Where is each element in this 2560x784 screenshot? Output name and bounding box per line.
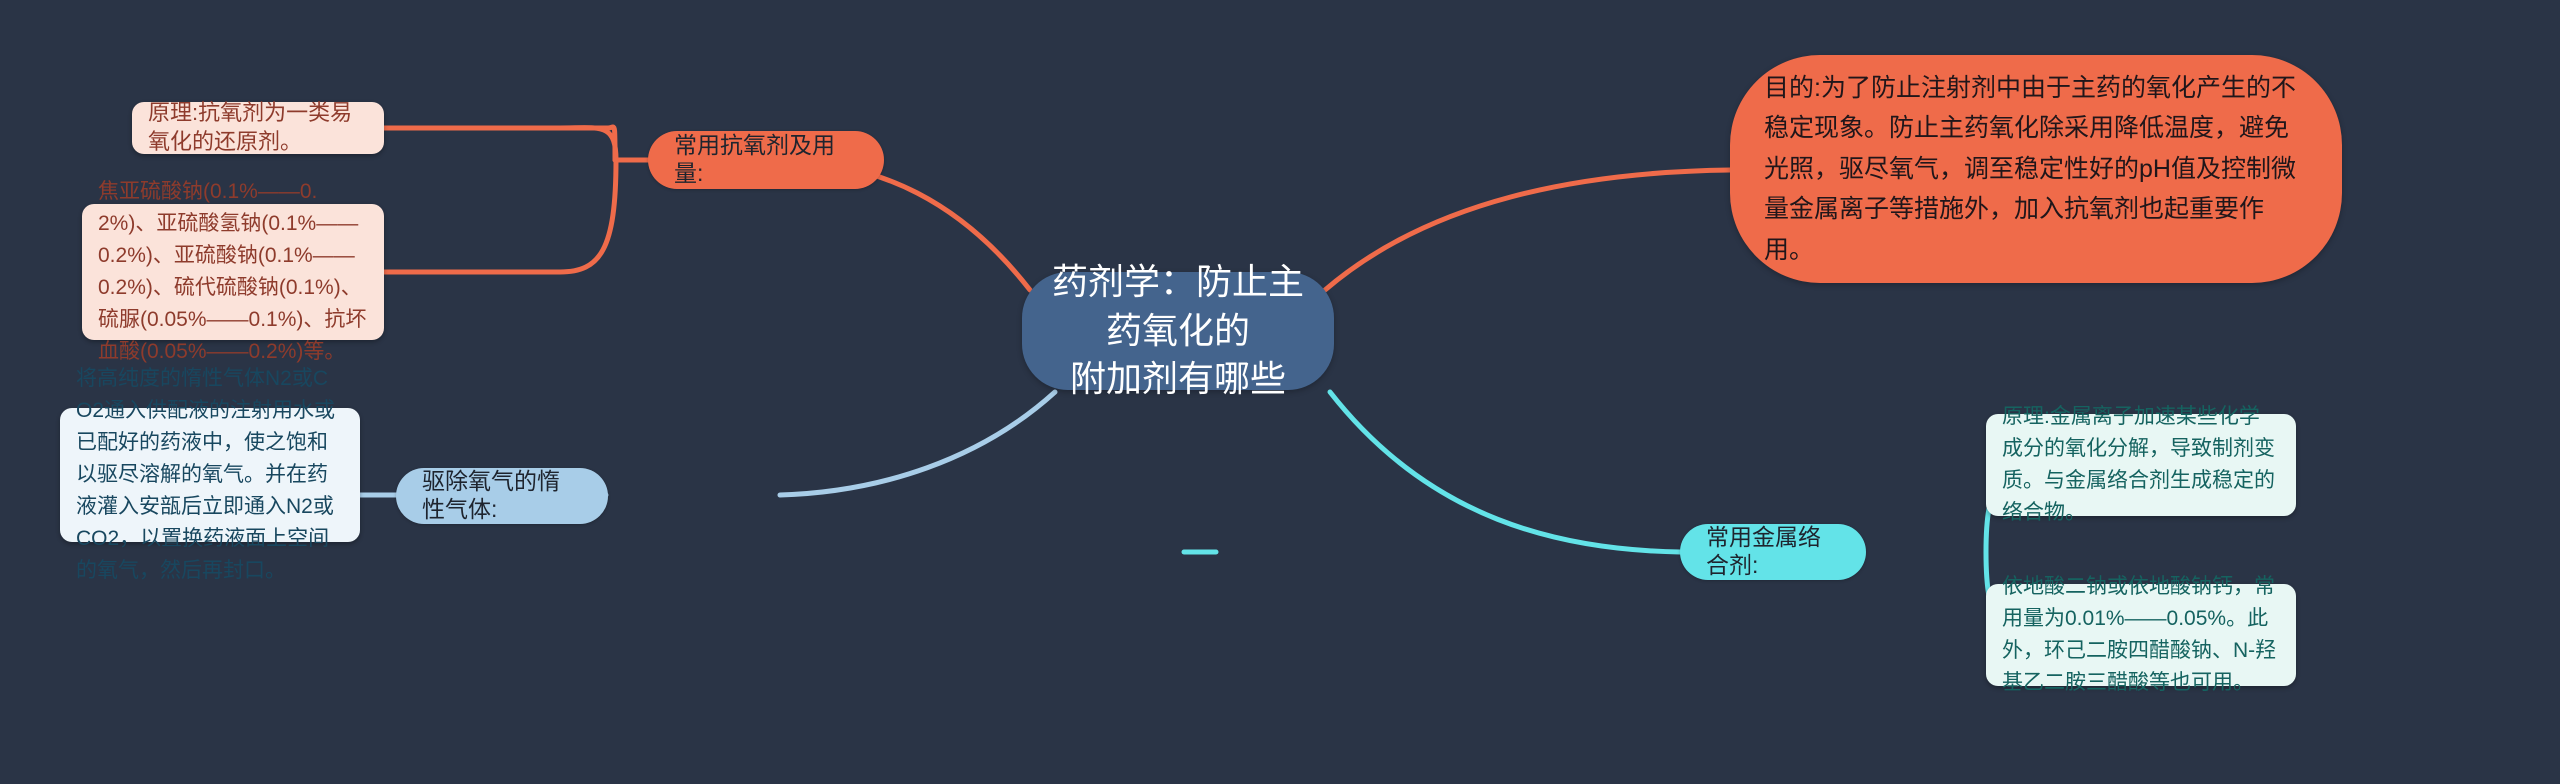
branch-inert-gas-label: 驱除氧气的惰性气体: [422,468,582,523]
leaf-chelator-principle-label: 原理:金属离子加速某些化学成分的氧化分解，导致制剂变质。与金属络合剂生成稳定的络… [2002,401,2280,529]
wire-root-to-inert-gas [780,392,1055,495]
branch-purpose-label: 目的:为了防止注射剂中由于主药的氧化产生的不稳定现象。防止主药氧化除采用降低温度… [1764,68,2308,271]
root-node[interactable]: 药剂学：防止主药氧化的 附加剂有哪些 [1022,272,1334,390]
leaf-chelator-principle[interactable]: 原理:金属离子加速某些化学成分的氧化分解，导致制剂变质。与金属络合剂生成稳定的络… [1986,414,2296,516]
wire-antioxidant-curve-bottom [376,160,616,272]
leaf-antioxidant-principle-label: 原理:抗氧剂为一类易氧化的还原剂。 [148,99,368,156]
leaf-antioxidant-list-label: 焦亚硫酸钠(0.1%——0.2%)、亚硫酸氢钠(0.1%——0.2%)、亚硫酸钠… [98,176,368,367]
leaf-antioxidant-principle[interactable]: 原理:抗氧剂为一类易氧化的还原剂。 [132,102,384,154]
branch-chelators-node[interactable]: 常用金属络合剂: [1680,524,1866,580]
branch-chelators-label: 常用金属络合剂: [1706,524,1840,579]
branch-antioxidants-node[interactable]: 常用抗氧剂及用量: [648,131,884,189]
branch-purpose-node[interactable]: 目的:为了防止注射剂中由于主药的氧化产生的不稳定现象。防止主药氧化除采用降低温度… [1730,55,2342,283]
branch-antioxidants-label: 常用抗氧剂及用量: [674,132,858,187]
wire-antioxidant-branch-top [386,127,615,160]
leaf-antioxidant-list[interactable]: 焦亚硫酸钠(0.1%——0.2%)、亚硫酸氢钠(0.1%——0.2%)、亚硫酸钠… [82,204,384,340]
leaf-inert-gas-detail[interactable]: 将高纯度的惰性气体N2或CO2通入供配液的注射用水或已配好的药液中，使之饱和以驱… [60,408,360,542]
branch-inert-gas-node[interactable]: 驱除氧气的惰性气体: [396,468,608,524]
wire-antioxidant-curve-top [384,128,616,160]
mindmap-canvas: 药剂学：防止主药氧化的 附加剂有哪些 目的:为了防止注射剂中由于主药的氧化产生的… [0,0,2560,784]
wire-root-to-purpose [1325,170,1730,290]
root-label: 药剂学：防止主药氧化的 附加剂有哪些 [1050,258,1306,404]
wire-root-to-chelators [1330,392,1680,552]
leaf-chelator-list-label: 依地酸二钠或依地酸钠钙，常用量为0.01%——0.05%。此外，环己二胺四醋酸钠… [2002,571,2280,699]
leaf-inert-gas-detail-label: 将高纯度的惰性气体N2或CO2通入供配液的注射用水或已配好的药液中，使之饱和以驱… [76,363,344,586]
leaf-chelator-list[interactable]: 依地酸二钠或依地酸钠钙，常用量为0.01%——0.05%。此外，环己二胺四醋酸钠… [1986,584,2296,686]
